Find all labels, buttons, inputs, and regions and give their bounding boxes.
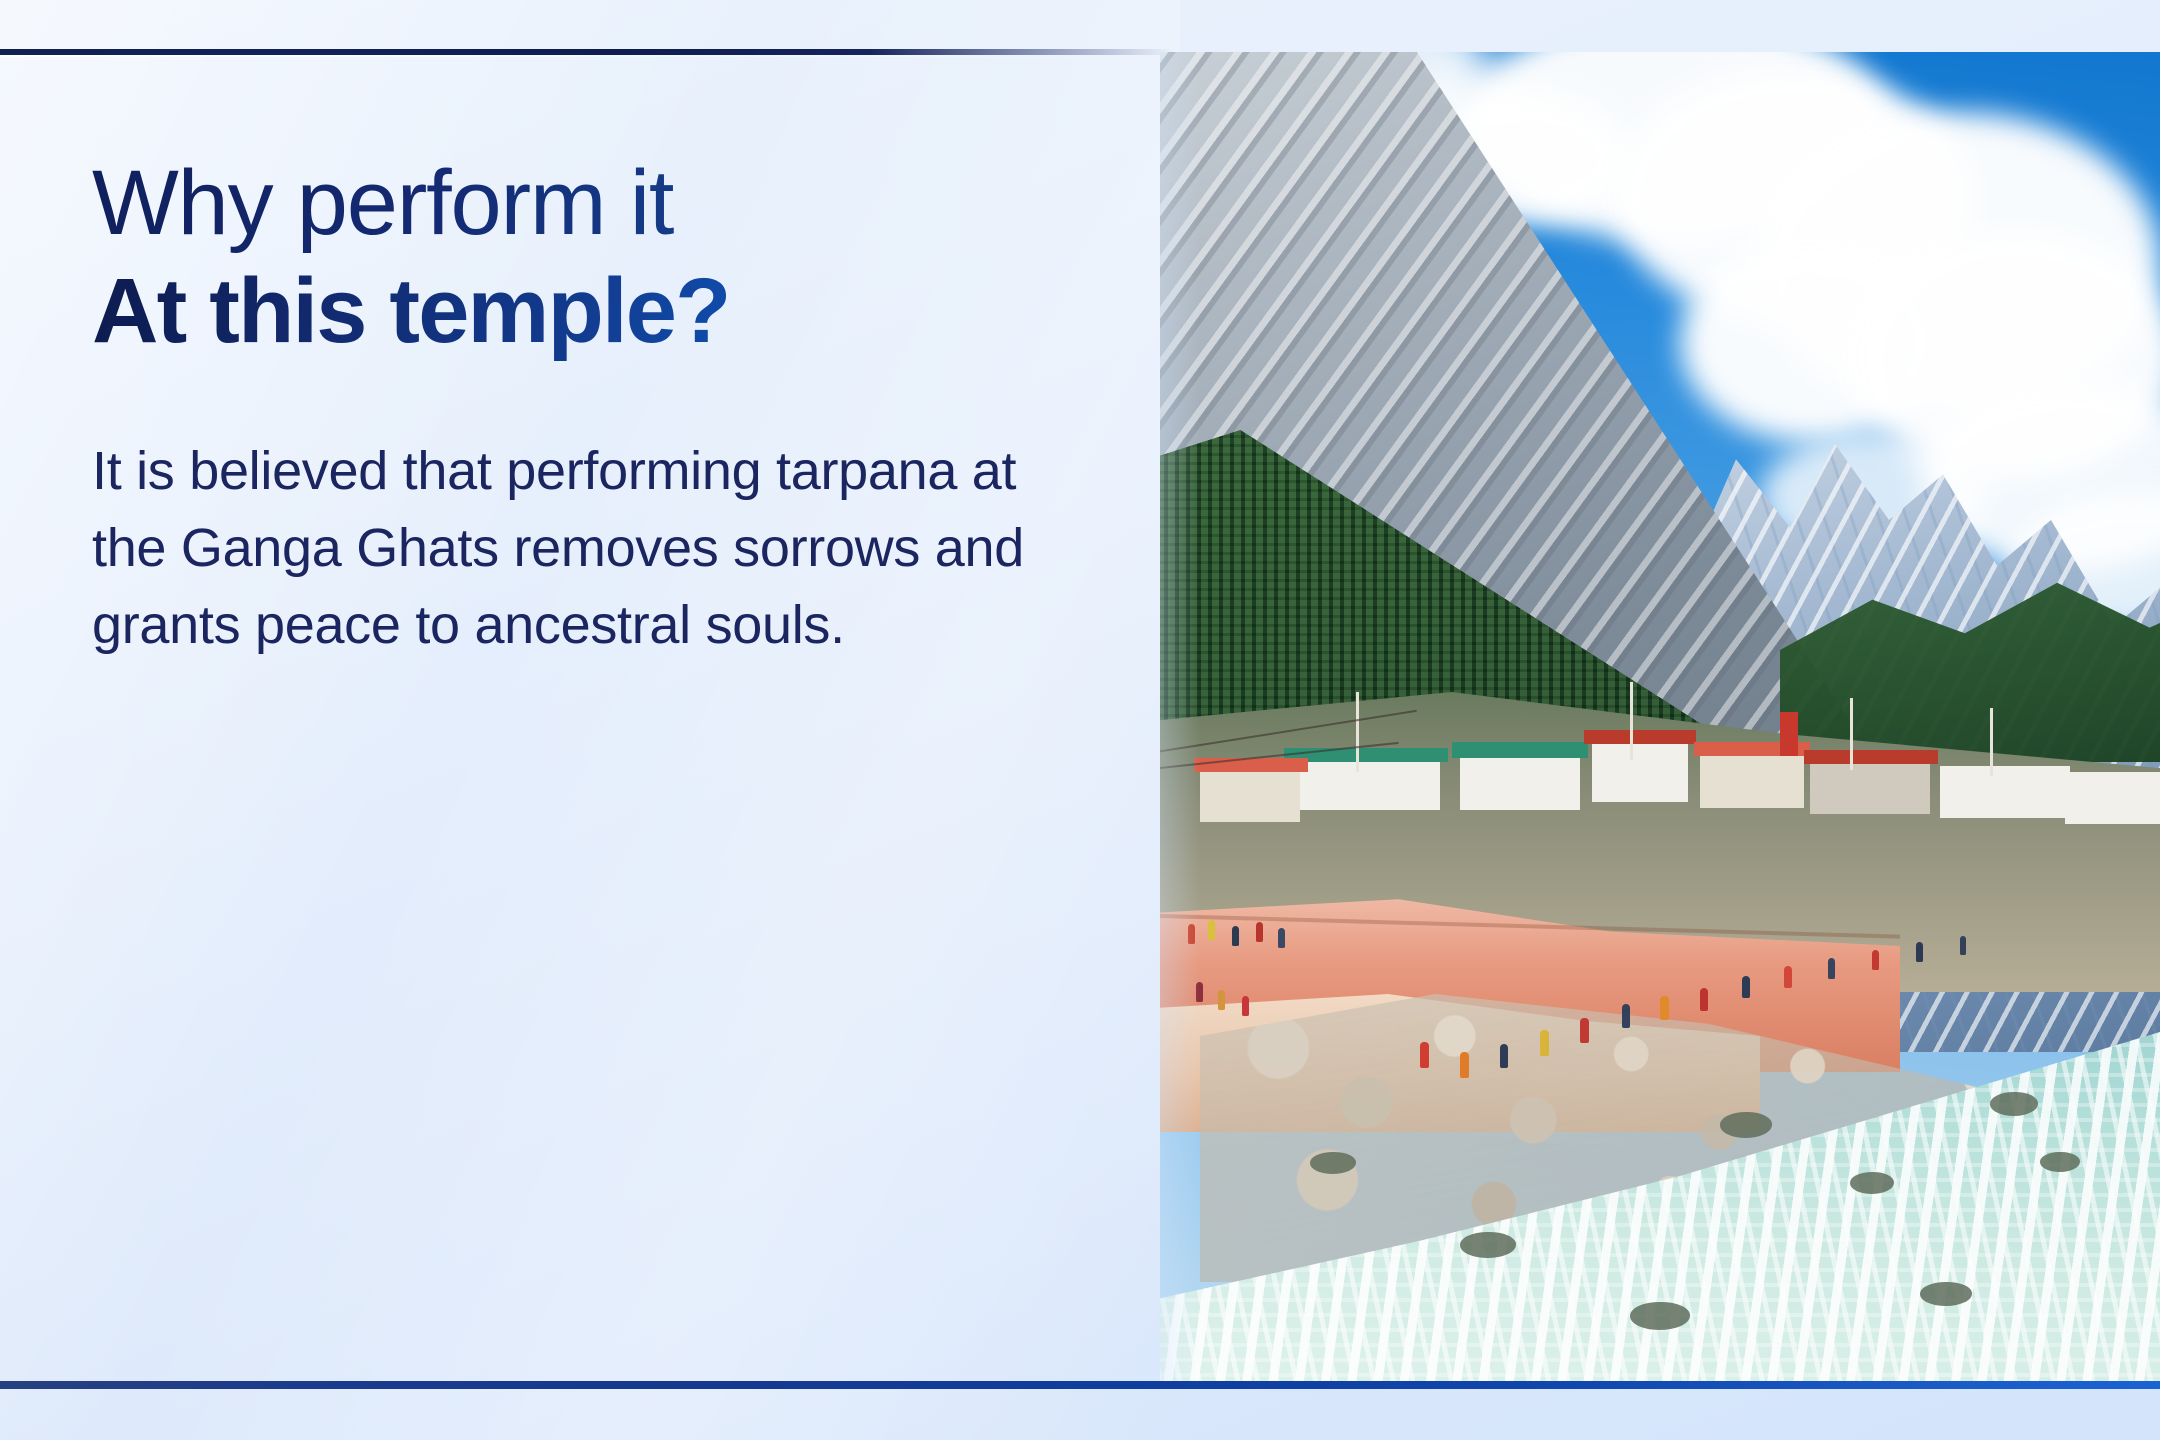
building-accent	[1780, 712, 1798, 756]
building-roof	[1284, 748, 1448, 762]
pilgrim-figure	[1622, 1004, 1630, 1028]
building	[1940, 766, 2070, 818]
pilgrim-figure	[1242, 996, 1249, 1016]
building-roof	[1584, 730, 1696, 744]
pilgrim-figure	[1420, 1042, 1429, 1068]
river-rock	[1310, 1152, 1356, 1174]
river-rock	[1850, 1172, 1894, 1194]
bottom-divider-rule	[0, 1381, 2160, 1389]
headline-line-2: At this temple?	[92, 258, 1102, 366]
pilgrim-figure	[1784, 966, 1792, 988]
building	[1200, 768, 1300, 822]
top-divider-highlight	[0, 55, 1175, 57]
page-title: Why perform it At this temple?	[92, 150, 1102, 365]
pilgrim-figure	[1580, 1018, 1589, 1043]
river-rock	[1920, 1282, 1972, 1306]
building-roof	[1452, 742, 1588, 758]
pilgrim-figure	[1460, 1052, 1469, 1078]
pilgrim-figure	[1196, 982, 1203, 1002]
slide-root: Why perform it At this temple? It is bel…	[0, 0, 2160, 1440]
pilgrim-figure	[1828, 958, 1835, 979]
pilgrim-figure	[1700, 988, 1708, 1011]
river-rock	[1720, 1112, 1772, 1138]
pilgrim-figure	[1218, 990, 1225, 1010]
pilgrim-figure	[1916, 942, 1923, 962]
building	[1460, 752, 1580, 810]
temple-river-photo	[1160, 52, 2160, 1381]
pilgrim-figure	[1540, 1030, 1549, 1056]
river-rock	[1990, 1092, 2038, 1116]
river-rock	[1460, 1232, 1516, 1258]
body-paragraph: It is believed that performing tarpana a…	[92, 433, 1032, 663]
pilgrim-figure	[1742, 976, 1750, 998]
building	[1290, 758, 1440, 810]
building	[1700, 752, 1804, 808]
headline-line-1: Why perform it	[92, 150, 1102, 258]
antenna-pole	[1356, 692, 1359, 772]
antenna-pole	[1850, 698, 1853, 770]
pilgrim-figure	[1500, 1044, 1508, 1068]
river-rock	[1630, 1302, 1690, 1330]
building	[2065, 772, 2160, 824]
pilgrim-figure	[1256, 922, 1263, 942]
pilgrim-figure	[1188, 924, 1195, 944]
antenna-pole	[1630, 682, 1633, 760]
pilgrim-figure	[1872, 950, 1879, 970]
river-rock	[2040, 1152, 2080, 1172]
pilgrim-figure	[1278, 928, 1285, 948]
pilgrim-figure	[1960, 936, 1966, 955]
pilgrim-figure	[1232, 926, 1239, 946]
building-roof	[1194, 758, 1308, 772]
building	[1810, 760, 1930, 814]
building-roof	[1804, 750, 1938, 764]
text-block: Why perform it At this temple? It is bel…	[92, 150, 1102, 663]
building	[1592, 740, 1688, 802]
pilgrim-figure	[1208, 920, 1215, 940]
pilgrim-figure	[1660, 996, 1669, 1020]
antenna-pole	[1990, 708, 1993, 776]
